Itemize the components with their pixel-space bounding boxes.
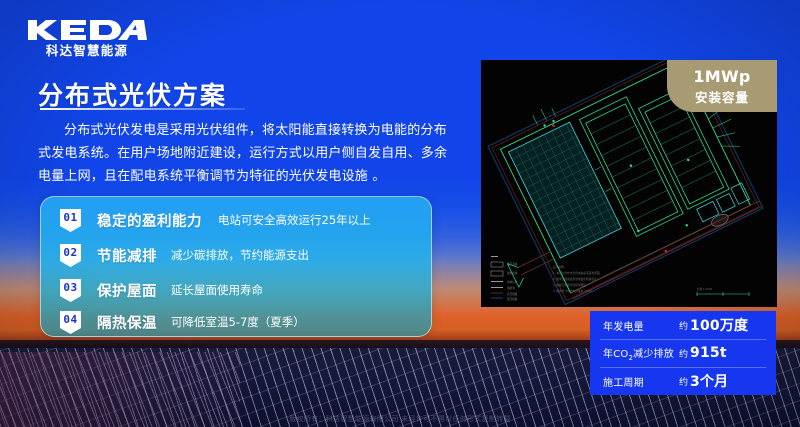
features-panel: 01 稳定的盈利能力 电站可安全高效运行25年以上 02 节能减排 减少碳排放，… <box>40 196 432 337</box>
feature-number-badge: 01 <box>58 208 83 233</box>
feature-item-02[interactable]: 02 节能减排 减少碳排放，节约能源支出 <box>41 242 432 268</box>
svg-text:1. 本图为分布式光伏电站总平面布置图。: 1. 本图为分布式光伏电站总平面布置图。 <box>553 271 602 275</box>
slide-root: 科达智慧能源 分布式光伏方案 分布式光伏发电是采用光伏组件，将太阳能直接转换为电… <box>0 0 800 427</box>
stats-label-main: 施工周期 <box>603 378 644 389</box>
capacity-value: 1MWp <box>693 67 750 86</box>
svg-text:2. 组件安装角度按当地最佳倾角设计。: 2. 组件安装角度按当地最佳倾角设计。 <box>553 277 599 281</box>
stats-value: 915t <box>690 345 727 361</box>
intro-paragraph-text: 分布式光伏发电是采用光伏组件，将太阳能直接转换为电能的分布式发电系统。在用户场地… <box>38 119 450 188</box>
stats-row-construction-period: 施工周期 约 3个月 <box>590 367 776 395</box>
feature-desc: 延长屋面使用寿命 <box>171 282 263 298</box>
svg-text:低压线路: 低压线路 <box>507 297 518 301</box>
svg-text:场区道路: 场区道路 <box>507 262 518 266</box>
brand-logo: 科达智慧能源 <box>26 17 148 58</box>
stats-row-annual-generation: 年发电量 约 100万度 <box>590 311 776 339</box>
stats-label-main: 年发电量 <box>603 322 644 333</box>
stats-card: 年发电量 约 100万度 年CO2减少排放 约 915t 施工周期 约 3个月 <box>590 311 776 395</box>
capacity-badge: 1MWp 安装容量 <box>667 60 777 112</box>
page-title: 分布式光伏方案 <box>38 76 227 112</box>
svg-text:设计说明：: 设计说明： <box>553 265 566 269</box>
keda-wordmark-icon <box>26 17 148 43</box>
stats-label: 施工周期 <box>603 374 679 389</box>
svg-text:3. 电缆沿电缆沟及桥架敷设。: 3. 电缆沿电缆沟及桥架敷设。 <box>553 283 589 287</box>
stats-value: 100万度 <box>690 315 748 335</box>
feature-number: 04 <box>58 313 83 326</box>
title-underline <box>40 108 245 110</box>
brand-logo-subtitle: 科达智慧能源 <box>26 45 148 58</box>
feature-title: 稳定的盈利能力 <box>97 210 202 231</box>
footer-copyright: 版权所有：科达智慧能源有限公司 未经许可不得以任何形式复制转载 <box>0 414 800 424</box>
stats-label: 年CO2减少排放 <box>603 345 679 362</box>
feature-title: 保护屋面 <box>97 280 157 301</box>
svg-text:4. 图中尺寸单位均为毫米（mm）。: 4. 图中尺寸单位均为毫米（mm）。 <box>553 289 595 293</box>
feature-number-badge: 02 <box>58 243 83 268</box>
svg-text:建筑轮廓: 建筑轮廓 <box>507 271 518 275</box>
feature-number-badge: 03 <box>58 278 83 303</box>
feature-item-03[interactable]: 03 保护屋面 延长屋面使用寿命 <box>41 277 432 303</box>
stats-approx: 约 <box>679 375 688 388</box>
feature-number: 03 <box>58 281 83 294</box>
feature-item-01[interactable]: 01 稳定的盈利能力 电站可安全高效运行25年以上 <box>41 207 432 233</box>
stats-row-co2-reduction: 年CO2减少排放 约 915t <box>590 339 776 367</box>
stats-label-tail: 减少排放 <box>633 349 674 360</box>
svg-text:高压线路: 高压线路 <box>507 292 518 296</box>
feature-desc: 减少碳排放，节约能源支出 <box>171 247 309 263</box>
feature-desc: 可降低室温5-7度（夏季） <box>171 314 305 330</box>
feature-desc: 电站可安全高效运行25年以上 <box>218 212 371 228</box>
feature-number: 01 <box>58 211 83 224</box>
intro-paragraph: 分布式光伏发电是采用光伏组件，将太阳能直接转换为电能的分布式发电系统。在用户场地… <box>38 119 450 188</box>
svg-text:用地红线: 用地红线 <box>507 280 518 284</box>
feature-number-badge: 04 <box>58 310 83 335</box>
cad-site-plan-image: 场区道路 建筑轮廓 用地红线 电缆沟 高压线路 低压线路 设计说明： 1. 本图… <box>481 60 777 307</box>
svg-text:电缆沟: 电缆沟 <box>507 286 515 290</box>
svg-text:比例 1:1000: 比例 1:1000 <box>697 287 712 291</box>
stats-value: 3个月 <box>690 371 728 391</box>
feature-item-04[interactable]: 04 隔热保温 可降低室温5-7度（夏季） <box>41 309 432 335</box>
stats-label-main: 年CO <box>603 349 628 360</box>
stats-approx: 约 <box>679 319 688 332</box>
capacity-label: 安装容量 <box>695 87 749 106</box>
feature-title: 隔热保温 <box>97 312 157 333</box>
stats-label: 年发电量 <box>603 318 679 333</box>
feature-title: 节能减排 <box>97 245 157 266</box>
stats-approx: 约 <box>679 347 688 360</box>
feature-number: 02 <box>58 246 83 259</box>
